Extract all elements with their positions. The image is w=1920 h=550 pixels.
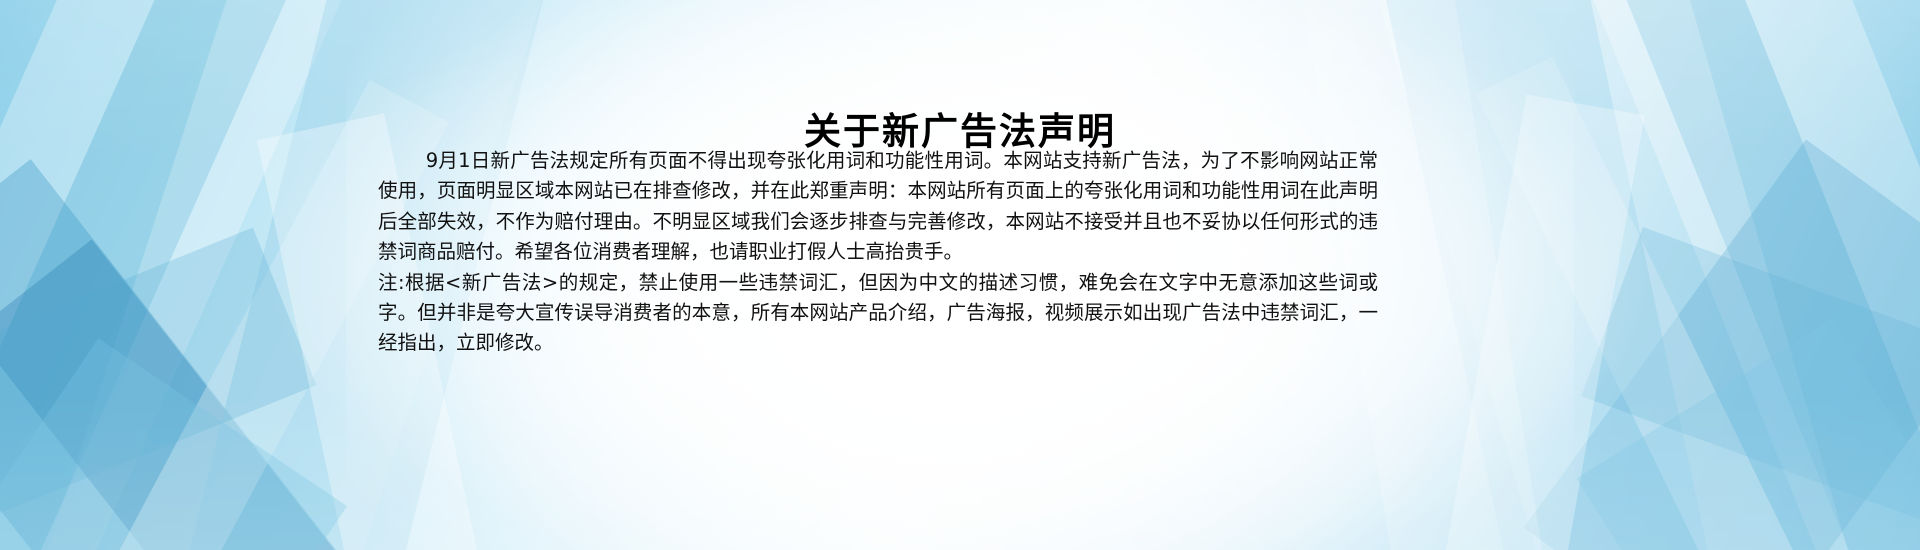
statement-paragraph-note: 注:根据<新广告法>的规定，禁止使用一些违禁词汇，但因为中文的描述习惯，难免会在… [378,268,1378,359]
statement-body: 9月1日新广告法规定所有页面不得出现夸张化用词和功能性用词。本网站支持新广告法，… [378,146,1378,359]
statement-paragraph-main: 9月1日新广告法规定所有页面不得出现夸张化用词和功能性用词。本网站支持新广告法，… [378,146,1378,268]
advertising-law-statement-banner: 关于新广告法声明 9月1日新广告法规定所有页面不得出现夸张化用词和功能性用词。本… [0,0,1920,550]
statement-content: 关于新广告法声明 9月1日新广告法规定所有页面不得出现夸张化用词和功能性用词。本… [0,0,1920,550]
